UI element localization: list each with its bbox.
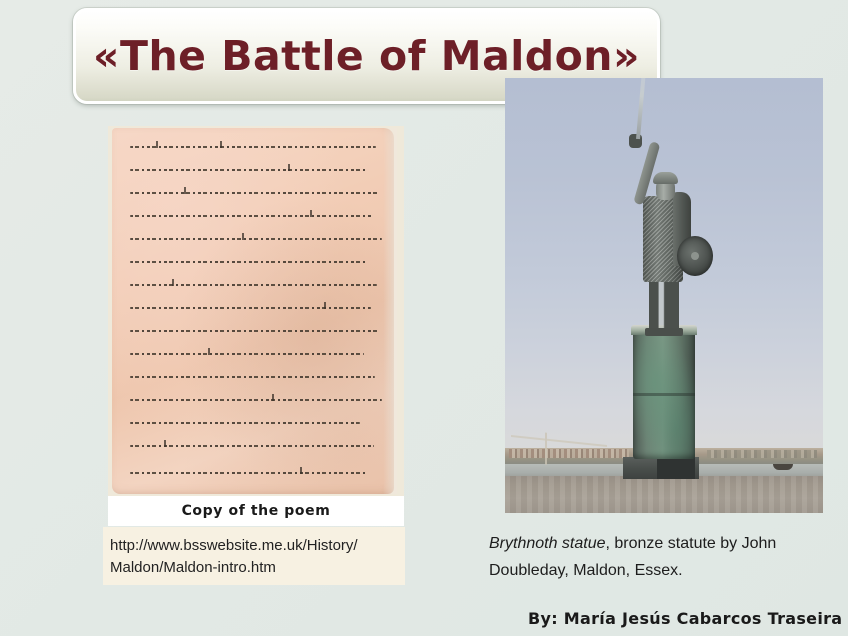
manuscript-source-url-box[interactable]: http://www.bsswebsite.me.uk/History/ Mal… <box>103 527 405 585</box>
statue-caption-rest: , bronze statute by John <box>606 535 777 552</box>
statue-caption: Brythnoth statue, bronze statute by John… <box>489 530 839 584</box>
statue-caption-line-1: Brythnoth statue, bronze statute by John <box>489 530 839 557</box>
manuscript-caption-band: Copy of the poem <box>108 496 404 526</box>
slide-canvas: «The Battle of Maldon» <box>0 0 848 636</box>
statue-caption-title: Brythnoth statue <box>489 535 606 552</box>
granite-base-shadow <box>657 456 695 479</box>
statue-legs <box>649 276 679 332</box>
statue-helmet <box>653 172 678 184</box>
statue-caption-line-2: Doubleday, Maldon, Essex. <box>489 557 839 584</box>
manuscript-image <box>108 126 404 496</box>
manuscript-caption-text: Copy of the poem <box>182 503 331 519</box>
bronze-plinth <box>633 331 695 459</box>
parchment-texture <box>112 128 394 494</box>
boat <box>773 464 793 470</box>
source-url-line-2: Maldon/Maldon-intro.htm <box>110 557 398 579</box>
foreground-promenade <box>505 476 823 513</box>
page-title: «The Battle of Maldon» <box>93 32 640 80</box>
author-byline: By: María Jesús Cabarcos Traseira <box>528 609 842 628</box>
round-shield-icon <box>677 236 713 276</box>
source-url-line-1: http://www.bsswebsite.me.uk/History/ <box>110 535 398 557</box>
statue-image <box>505 78 823 513</box>
